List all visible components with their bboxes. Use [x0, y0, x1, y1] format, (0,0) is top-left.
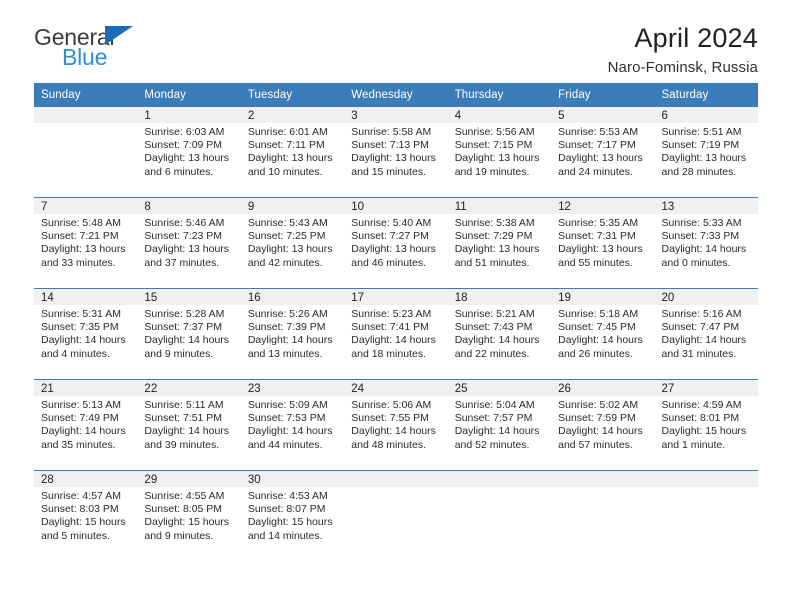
daylight-text: Daylight: 13 hours: [662, 152, 752, 165]
day-cell-inner: 12Sunrise: 5:35 AMSunset: 7:31 PMDayligh…: [551, 198, 654, 288]
sunrise-text: Sunrise: 5:51 AM: [662, 126, 752, 139]
daylight-text: and 39 minutes.: [144, 439, 234, 452]
day-details: Sunrise: 4:53 AMSunset: 8:07 PMDaylight:…: [241, 487, 344, 543]
day-number: 2: [241, 107, 344, 123]
sunset-text: Sunset: 7:55 PM: [351, 412, 441, 425]
day-number: 16: [241, 289, 344, 305]
daylight-text: Daylight: 13 hours: [558, 243, 648, 256]
daylight-text: and 5 minutes.: [41, 530, 131, 543]
calendar-week-row: 14Sunrise: 5:31 AMSunset: 7:35 PMDayligh…: [34, 289, 758, 380]
day-cell-inner: 5Sunrise: 5:53 AMSunset: 7:17 PMDaylight…: [551, 107, 654, 197]
daylight-text: and 22 minutes.: [455, 348, 545, 361]
calendar-body: 1Sunrise: 6:03 AMSunset: 7:09 PMDaylight…: [34, 107, 758, 561]
day-number: [34, 107, 137, 123]
daylight-text: Daylight: 15 hours: [41, 516, 131, 529]
daylight-text: Daylight: 14 hours: [248, 334, 338, 347]
day-details: Sunrise: 4:59 AMSunset: 8:01 PMDaylight:…: [655, 396, 758, 452]
sunset-text: Sunset: 8:07 PM: [248, 503, 338, 516]
day-details: Sunrise: 5:58 AMSunset: 7:13 PMDaylight:…: [344, 123, 447, 179]
daylight-text: Daylight: 13 hours: [248, 152, 338, 165]
day-number: 18: [448, 289, 551, 305]
calendar-day-cell[interactable]: 7Sunrise: 5:48 AMSunset: 7:21 PMDaylight…: [34, 198, 137, 289]
day-number: 6: [655, 107, 758, 123]
logo-triangle-icon: [105, 26, 133, 45]
sunset-text: Sunset: 7:13 PM: [351, 139, 441, 152]
sunset-text: Sunset: 7:51 PM: [144, 412, 234, 425]
day-details: Sunrise: 5:40 AMSunset: 7:27 PMDaylight:…: [344, 214, 447, 270]
day-cell-inner: [655, 471, 758, 561]
sunset-text: Sunset: 7:47 PM: [662, 321, 752, 334]
daylight-text: Daylight: 13 hours: [41, 243, 131, 256]
sunset-text: Sunset: 7:11 PM: [248, 139, 338, 152]
sunrise-text: Sunrise: 5:28 AM: [144, 308, 234, 321]
day-number: 25: [448, 380, 551, 396]
calendar-day-cell[interactable]: 8Sunrise: 5:46 AMSunset: 7:23 PMDaylight…: [137, 198, 240, 289]
day-cell-inner: 13Sunrise: 5:33 AMSunset: 7:33 PMDayligh…: [655, 198, 758, 288]
day-details: [344, 487, 447, 490]
day-number: 13: [655, 198, 758, 214]
calendar-day-cell[interactable]: 26Sunrise: 5:02 AMSunset: 7:59 PMDayligh…: [551, 380, 654, 471]
day-details: Sunrise: 5:43 AMSunset: 7:25 PMDaylight:…: [241, 214, 344, 270]
daylight-text: and 44 minutes.: [248, 439, 338, 452]
calendar-page: General Blue April 2024 Naro-Fominsk, Ru…: [0, 0, 792, 612]
calendar-empty-cell: [34, 107, 137, 198]
daylight-text: Daylight: 14 hours: [455, 425, 545, 438]
day-details: Sunrise: 5:21 AMSunset: 7:43 PMDaylight:…: [448, 305, 551, 361]
logo-text-blue: Blue: [62, 44, 107, 70]
day-number: 27: [655, 380, 758, 396]
day-details: Sunrise: 5:31 AMSunset: 7:35 PMDaylight:…: [34, 305, 137, 361]
calendar-day-cell[interactable]: 20Sunrise: 5:16 AMSunset: 7:47 PMDayligh…: [655, 289, 758, 380]
sunrise-text: Sunrise: 5:06 AM: [351, 399, 441, 412]
day-number: 24: [344, 380, 447, 396]
daylight-text: Daylight: 14 hours: [662, 334, 752, 347]
calendar-day-cell[interactable]: 27Sunrise: 4:59 AMSunset: 8:01 PMDayligh…: [655, 380, 758, 471]
daylight-text: and 31 minutes.: [662, 348, 752, 361]
sunrise-text: Sunrise: 6:01 AM: [248, 126, 338, 139]
day-details: Sunrise: 5:35 AMSunset: 7:31 PMDaylight:…: [551, 214, 654, 270]
day-cell-inner: 10Sunrise: 5:40 AMSunset: 7:27 PMDayligh…: [344, 198, 447, 288]
daylight-text: and 10 minutes.: [248, 166, 338, 179]
sunset-text: Sunset: 7:27 PM: [351, 230, 441, 243]
daylight-text: Daylight: 14 hours: [41, 425, 131, 438]
day-number: 11: [448, 198, 551, 214]
day-number: 1: [137, 107, 240, 123]
day-cell-inner: 17Sunrise: 5:23 AMSunset: 7:41 PMDayligh…: [344, 289, 447, 379]
day-details: Sunrise: 6:03 AMSunset: 7:09 PMDaylight:…: [137, 123, 240, 179]
sunrise-text: Sunrise: 5:13 AM: [41, 399, 131, 412]
day-cell-inner: 25Sunrise: 5:04 AMSunset: 7:57 PMDayligh…: [448, 380, 551, 470]
weekday-header-thursday: Thursday: [448, 83, 551, 107]
sunset-text: Sunset: 7:41 PM: [351, 321, 441, 334]
day-details: Sunrise: 5:51 AMSunset: 7:19 PMDaylight:…: [655, 123, 758, 179]
day-details: [655, 487, 758, 490]
calendar-day-cell[interactable]: 29Sunrise: 4:55 AMSunset: 8:05 PMDayligh…: [137, 471, 240, 562]
day-cell-inner: [344, 471, 447, 561]
daylight-text: and 4 minutes.: [41, 348, 131, 361]
sunset-text: Sunset: 7:19 PM: [662, 139, 752, 152]
sunrise-text: Sunrise: 5:31 AM: [41, 308, 131, 321]
day-number: 9: [241, 198, 344, 214]
calendar-empty-cell: [551, 471, 654, 562]
day-cell-inner: 27Sunrise: 4:59 AMSunset: 8:01 PMDayligh…: [655, 380, 758, 470]
calendar-week-row: 7Sunrise: 5:48 AMSunset: 7:21 PMDaylight…: [34, 198, 758, 289]
calendar-day-cell[interactable]: 2Sunrise: 6:01 AMSunset: 7:11 PMDaylight…: [241, 107, 344, 198]
sunset-text: Sunset: 8:03 PM: [41, 503, 131, 516]
day-number: 22: [137, 380, 240, 396]
day-cell-inner: 3Sunrise: 5:58 AMSunset: 7:13 PMDaylight…: [344, 107, 447, 197]
day-cell-inner: 14Sunrise: 5:31 AMSunset: 7:35 PMDayligh…: [34, 289, 137, 379]
calendar-day-cell[interactable]: 24Sunrise: 5:06 AMSunset: 7:55 PMDayligh…: [344, 380, 447, 471]
day-number: 28: [34, 471, 137, 487]
daylight-text: Daylight: 13 hours: [558, 152, 648, 165]
day-number: [655, 471, 758, 487]
day-details: [34, 123, 137, 126]
day-number: 7: [34, 198, 137, 214]
calendar-day-cell[interactable]: 16Sunrise: 5:26 AMSunset: 7:39 PMDayligh…: [241, 289, 344, 380]
day-number: 10: [344, 198, 447, 214]
day-cell-inner: 11Sunrise: 5:38 AMSunset: 7:29 PMDayligh…: [448, 198, 551, 288]
daylight-text: Daylight: 14 hours: [558, 425, 648, 438]
daylight-text: and 42 minutes.: [248, 257, 338, 270]
sunrise-text: Sunrise: 5:23 AM: [351, 308, 441, 321]
sunrise-text: Sunrise: 4:55 AM: [144, 490, 234, 503]
day-number: 5: [551, 107, 654, 123]
page-header: General Blue April 2024 Naro-Fominsk, Ru…: [34, 0, 758, 72]
sunrise-text: Sunrise: 5:09 AM: [248, 399, 338, 412]
day-details: Sunrise: 5:28 AMSunset: 7:37 PMDaylight:…: [137, 305, 240, 361]
calendar-day-cell[interactable]: 12Sunrise: 5:35 AMSunset: 7:31 PMDayligh…: [551, 198, 654, 289]
sunset-text: Sunset: 7:33 PM: [662, 230, 752, 243]
daylight-text: Daylight: 15 hours: [248, 516, 338, 529]
daylight-text: and 51 minutes.: [455, 257, 545, 270]
day-details: Sunrise: 5:33 AMSunset: 7:33 PMDaylight:…: [655, 214, 758, 270]
day-details: Sunrise: 5:02 AMSunset: 7:59 PMDaylight:…: [551, 396, 654, 452]
day-cell-inner: 1Sunrise: 6:03 AMSunset: 7:09 PMDaylight…: [137, 107, 240, 197]
daylight-text: Daylight: 14 hours: [248, 425, 338, 438]
calendar-day-cell[interactable]: 4Sunrise: 5:56 AMSunset: 7:15 PMDaylight…: [448, 107, 551, 198]
day-cell-inner: 2Sunrise: 6:01 AMSunset: 7:11 PMDaylight…: [241, 107, 344, 197]
day-cell-inner: 8Sunrise: 5:46 AMSunset: 7:23 PMDaylight…: [137, 198, 240, 288]
day-cell-inner: [551, 471, 654, 561]
calendar-day-cell[interactable]: 11Sunrise: 5:38 AMSunset: 7:29 PMDayligh…: [448, 198, 551, 289]
sunrise-text: Sunrise: 5:56 AM: [455, 126, 545, 139]
calendar-day-cell[interactable]: 22Sunrise: 5:11 AMSunset: 7:51 PMDayligh…: [137, 380, 240, 471]
day-details: Sunrise: 5:16 AMSunset: 7:47 PMDaylight:…: [655, 305, 758, 361]
sunrise-text: Sunrise: 5:18 AM: [558, 308, 648, 321]
sunset-text: Sunset: 7:29 PM: [455, 230, 545, 243]
day-number: 14: [34, 289, 137, 305]
day-details: Sunrise: 4:55 AMSunset: 8:05 PMDaylight:…: [137, 487, 240, 543]
daylight-text: Daylight: 13 hours: [455, 152, 545, 165]
day-number: 23: [241, 380, 344, 396]
calendar-day-cell[interactable]: 3Sunrise: 5:58 AMSunset: 7:13 PMDaylight…: [344, 107, 447, 198]
weekday-header-tuesday: Tuesday: [241, 83, 344, 107]
calendar-week-row: 1Sunrise: 6:03 AMSunset: 7:09 PMDaylight…: [34, 107, 758, 198]
day-cell-inner: 19Sunrise: 5:18 AMSunset: 7:45 PMDayligh…: [551, 289, 654, 379]
day-number: 8: [137, 198, 240, 214]
day-cell-inner: 29Sunrise: 4:55 AMSunset: 8:05 PMDayligh…: [137, 471, 240, 561]
calendar-day-cell[interactable]: 6Sunrise: 5:51 AMSunset: 7:19 PMDaylight…: [655, 107, 758, 198]
sunrise-text: Sunrise: 5:35 AM: [558, 217, 648, 230]
sunrise-text: Sunrise: 5:21 AM: [455, 308, 545, 321]
day-details: Sunrise: 5:13 AMSunset: 7:49 PMDaylight:…: [34, 396, 137, 452]
sunset-text: Sunset: 7:37 PM: [144, 321, 234, 334]
calendar-day-cell[interactable]: 17Sunrise: 5:23 AMSunset: 7:41 PMDayligh…: [344, 289, 447, 380]
day-cell-inner: [34, 107, 137, 197]
weekday-header-friday: Friday: [551, 83, 654, 107]
daylight-text: Daylight: 15 hours: [144, 516, 234, 529]
day-cell-inner: 20Sunrise: 5:16 AMSunset: 7:47 PMDayligh…: [655, 289, 758, 379]
daylight-text: and 57 minutes.: [558, 439, 648, 452]
calendar-day-cell[interactable]: 15Sunrise: 5:28 AMSunset: 7:37 PMDayligh…: [137, 289, 240, 380]
sunrise-text: Sunrise: 5:43 AM: [248, 217, 338, 230]
day-number: 4: [448, 107, 551, 123]
daylight-text: and 37 minutes.: [144, 257, 234, 270]
daylight-text: and 13 minutes.: [248, 348, 338, 361]
day-cell-inner: 9Sunrise: 5:43 AMSunset: 7:25 PMDaylight…: [241, 198, 344, 288]
daylight-text: Daylight: 13 hours: [144, 243, 234, 256]
sunrise-text: Sunrise: 5:16 AM: [662, 308, 752, 321]
day-details: Sunrise: 5:56 AMSunset: 7:15 PMDaylight:…: [448, 123, 551, 179]
day-details: [448, 487, 551, 490]
day-number: 20: [655, 289, 758, 305]
day-details: Sunrise: 5:53 AMSunset: 7:17 PMDaylight:…: [551, 123, 654, 179]
day-details: Sunrise: 5:46 AMSunset: 7:23 PMDaylight:…: [137, 214, 240, 270]
day-cell-inner: 15Sunrise: 5:28 AMSunset: 7:37 PMDayligh…: [137, 289, 240, 379]
day-number: [344, 471, 447, 487]
sunrise-text: Sunrise: 4:57 AM: [41, 490, 131, 503]
daylight-text: Daylight: 14 hours: [41, 334, 131, 347]
daylight-text: and 9 minutes.: [144, 530, 234, 543]
sunset-text: Sunset: 7:25 PM: [248, 230, 338, 243]
day-cell-inner: 30Sunrise: 4:53 AMSunset: 8:07 PMDayligh…: [241, 471, 344, 561]
daylight-text: Daylight: 14 hours: [144, 425, 234, 438]
sunset-text: Sunset: 7:17 PM: [558, 139, 648, 152]
calendar-empty-cell: [655, 471, 758, 562]
daylight-text: and 33 minutes.: [41, 257, 131, 270]
day-number: [448, 471, 551, 487]
day-number: 21: [34, 380, 137, 396]
sunrise-text: Sunrise: 5:38 AM: [455, 217, 545, 230]
daylight-text: and 19 minutes.: [455, 166, 545, 179]
daylight-text: Daylight: 14 hours: [558, 334, 648, 347]
day-cell-inner: 18Sunrise: 5:21 AMSunset: 7:43 PMDayligh…: [448, 289, 551, 379]
day-details: Sunrise: 5:18 AMSunset: 7:45 PMDaylight:…: [551, 305, 654, 361]
sunrise-text: Sunrise: 5:40 AM: [351, 217, 441, 230]
daylight-text: Daylight: 14 hours: [144, 334, 234, 347]
day-cell-inner: 16Sunrise: 5:26 AMSunset: 7:39 PMDayligh…: [241, 289, 344, 379]
calendar-day-cell[interactable]: 19Sunrise: 5:18 AMSunset: 7:45 PMDayligh…: [551, 289, 654, 380]
calendar-table: SundayMondayTuesdayWednesdayThursdayFrid…: [34, 83, 758, 561]
day-details: Sunrise: 5:48 AMSunset: 7:21 PMDaylight:…: [34, 214, 137, 270]
sunset-text: Sunset: 8:01 PM: [662, 412, 752, 425]
daylight-text: and 0 minutes.: [662, 257, 752, 270]
sunrise-text: Sunrise: 4:59 AM: [662, 399, 752, 412]
calendar-week-row: 28Sunrise: 4:57 AMSunset: 8:03 PMDayligh…: [34, 471, 758, 562]
day-number: 3: [344, 107, 447, 123]
daylight-text: Daylight: 14 hours: [351, 334, 441, 347]
sunrise-text: Sunrise: 5:58 AM: [351, 126, 441, 139]
day-details: Sunrise: 5:06 AMSunset: 7:55 PMDaylight:…: [344, 396, 447, 452]
day-details: Sunrise: 5:26 AMSunset: 7:39 PMDaylight:…: [241, 305, 344, 361]
day-number: 26: [551, 380, 654, 396]
calendar-empty-cell: [344, 471, 447, 562]
daylight-text: Daylight: 13 hours: [455, 243, 545, 256]
daylight-text: Daylight: 13 hours: [248, 243, 338, 256]
daylight-text: and 26 minutes.: [558, 348, 648, 361]
day-details: Sunrise: 5:09 AMSunset: 7:53 PMDaylight:…: [241, 396, 344, 452]
sunset-text: Sunset: 7:53 PM: [248, 412, 338, 425]
sunset-text: Sunset: 7:35 PM: [41, 321, 131, 334]
calendar-day-cell[interactable]: 25Sunrise: 5:04 AMSunset: 7:57 PMDayligh…: [448, 380, 551, 471]
sunset-text: Sunset: 7:57 PM: [455, 412, 545, 425]
calendar-day-cell[interactable]: 21Sunrise: 5:13 AMSunset: 7:49 PMDayligh…: [34, 380, 137, 471]
day-cell-inner: 6Sunrise: 5:51 AMSunset: 7:19 PMDaylight…: [655, 107, 758, 197]
sunset-text: Sunset: 7:59 PM: [558, 412, 648, 425]
day-details: Sunrise: 5:11 AMSunset: 7:51 PMDaylight:…: [137, 396, 240, 452]
calendar-day-cell[interactable]: 5Sunrise: 5:53 AMSunset: 7:17 PMDaylight…: [551, 107, 654, 198]
day-details: Sunrise: 5:04 AMSunset: 7:57 PMDaylight:…: [448, 396, 551, 452]
sunset-text: Sunset: 7:21 PM: [41, 230, 131, 243]
calendar-week-row: 21Sunrise: 5:13 AMSunset: 7:49 PMDayligh…: [34, 380, 758, 471]
calendar-empty-cell: [448, 471, 551, 562]
daylight-text: and 24 minutes.: [558, 166, 648, 179]
sunrise-text: Sunrise: 5:33 AM: [662, 217, 752, 230]
sunset-text: Sunset: 7:39 PM: [248, 321, 338, 334]
daylight-text: and 55 minutes.: [558, 257, 648, 270]
day-details: Sunrise: 6:01 AMSunset: 7:11 PMDaylight:…: [241, 123, 344, 179]
calendar-day-cell[interactable]: 14Sunrise: 5:31 AMSunset: 7:35 PMDayligh…: [34, 289, 137, 380]
calendar-day-cell[interactable]: 9Sunrise: 5:43 AMSunset: 7:25 PMDaylight…: [241, 198, 344, 289]
calendar-day-cell[interactable]: 30Sunrise: 4:53 AMSunset: 8:07 PMDayligh…: [241, 471, 344, 562]
day-details: Sunrise: 5:23 AMSunset: 7:41 PMDaylight:…: [344, 305, 447, 361]
calendar-day-cell[interactable]: 23Sunrise: 5:09 AMSunset: 7:53 PMDayligh…: [241, 380, 344, 471]
day-cell-inner: 4Sunrise: 5:56 AMSunset: 7:15 PMDaylight…: [448, 107, 551, 197]
day-cell-inner: 22Sunrise: 5:11 AMSunset: 7:51 PMDayligh…: [137, 380, 240, 470]
sunset-text: Sunset: 7:23 PM: [144, 230, 234, 243]
sunrise-text: Sunrise: 5:46 AM: [144, 217, 234, 230]
sunset-text: Sunset: 7:43 PM: [455, 321, 545, 334]
calendar-day-cell[interactable]: 10Sunrise: 5:40 AMSunset: 7:27 PMDayligh…: [344, 198, 447, 289]
sunset-text: Sunset: 7:09 PM: [144, 139, 234, 152]
weekday-header-monday: Monday: [137, 83, 240, 107]
daylight-text: and 14 minutes.: [248, 530, 338, 543]
daylight-text: and 35 minutes.: [41, 439, 131, 452]
weekday-header-saturday: Saturday: [655, 83, 758, 107]
sunset-text: Sunset: 7:31 PM: [558, 230, 648, 243]
daylight-text: and 18 minutes.: [351, 348, 441, 361]
day-number: 12: [551, 198, 654, 214]
calendar-header-row: SundayMondayTuesdayWednesdayThursdayFrid…: [34, 83, 758, 107]
daylight-text: and 1 minute.: [662, 439, 752, 452]
day-cell-inner: 7Sunrise: 5:48 AMSunset: 7:21 PMDaylight…: [34, 198, 137, 288]
day-cell-inner: 26Sunrise: 5:02 AMSunset: 7:59 PMDayligh…: [551, 380, 654, 470]
day-cell-inner: 28Sunrise: 4:57 AMSunset: 8:03 PMDayligh…: [34, 471, 137, 561]
day-cell-inner: 21Sunrise: 5:13 AMSunset: 7:49 PMDayligh…: [34, 380, 137, 470]
sunset-text: Sunset: 7:45 PM: [558, 321, 648, 334]
weekday-header-sunday: Sunday: [34, 83, 137, 107]
sunrise-text: Sunrise: 5:53 AM: [558, 126, 648, 139]
daylight-text: Daylight: 15 hours: [662, 425, 752, 438]
day-number: 30: [241, 471, 344, 487]
sunrise-text: Sunrise: 5:04 AM: [455, 399, 545, 412]
daylight-text: Daylight: 14 hours: [351, 425, 441, 438]
sunrise-text: Sunrise: 5:02 AM: [558, 399, 648, 412]
day-number: [551, 471, 654, 487]
calendar-day-cell[interactable]: 28Sunrise: 4:57 AMSunset: 8:03 PMDayligh…: [34, 471, 137, 562]
day-number: 15: [137, 289, 240, 305]
daylight-text: and 15 minutes.: [351, 166, 441, 179]
day-details: Sunrise: 5:38 AMSunset: 7:29 PMDaylight:…: [448, 214, 551, 270]
calendar-day-cell[interactable]: 18Sunrise: 5:21 AMSunset: 7:43 PMDayligh…: [448, 289, 551, 380]
daylight-text: and 28 minutes.: [662, 166, 752, 179]
daylight-text: Daylight: 14 hours: [455, 334, 545, 347]
calendar-day-cell[interactable]: 1Sunrise: 6:03 AMSunset: 7:09 PMDaylight…: [137, 107, 240, 198]
daylight-text: and 48 minutes.: [351, 439, 441, 452]
generalblue-logo: General Blue: [34, 24, 254, 76]
day-number: 19: [551, 289, 654, 305]
sunrise-text: Sunrise: 5:26 AM: [248, 308, 338, 321]
sunrise-text: Sunrise: 6:03 AM: [144, 126, 234, 139]
daylight-text: Daylight: 14 hours: [662, 243, 752, 256]
sunrise-text: Sunrise: 5:11 AM: [144, 399, 234, 412]
daylight-text: Daylight: 13 hours: [351, 152, 441, 165]
day-details: Sunrise: 4:57 AMSunset: 8:03 PMDaylight:…: [34, 487, 137, 543]
daylight-text: Daylight: 13 hours: [351, 243, 441, 256]
daylight-text: Daylight: 13 hours: [144, 152, 234, 165]
day-number: 29: [137, 471, 240, 487]
weekday-header-wednesday: Wednesday: [344, 83, 447, 107]
daylight-text: and 6 minutes.: [144, 166, 234, 179]
day-cell-inner: 24Sunrise: 5:06 AMSunset: 7:55 PMDayligh…: [344, 380, 447, 470]
day-cell-inner: [448, 471, 551, 561]
sunrise-text: Sunrise: 4:53 AM: [248, 490, 338, 503]
daylight-text: and 9 minutes.: [144, 348, 234, 361]
day-number: 17: [344, 289, 447, 305]
daylight-text: and 46 minutes.: [351, 257, 441, 270]
day-cell-inner: 23Sunrise: 5:09 AMSunset: 7:53 PMDayligh…: [241, 380, 344, 470]
calendar-day-cell[interactable]: 13Sunrise: 5:33 AMSunset: 7:33 PMDayligh…: [655, 198, 758, 289]
sunset-text: Sunset: 8:05 PM: [144, 503, 234, 516]
sunset-text: Sunset: 7:15 PM: [455, 139, 545, 152]
sunrise-text: Sunrise: 5:48 AM: [41, 217, 131, 230]
sunset-text: Sunset: 7:49 PM: [41, 412, 131, 425]
day-details: [551, 487, 654, 490]
daylight-text: and 52 minutes.: [455, 439, 545, 452]
